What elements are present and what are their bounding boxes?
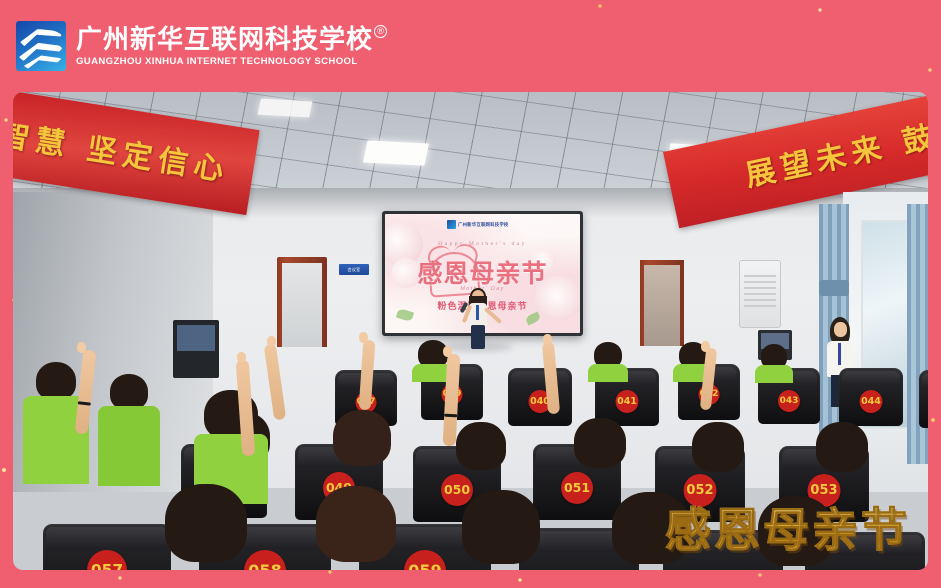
seat: 040: [508, 368, 572, 426]
computer-rack: [173, 320, 219, 378]
seat-number: 059: [404, 550, 446, 570]
audience-person: [571, 418, 629, 476]
slide-logo: 广州新华互联网科技学校: [447, 220, 509, 229]
audience-person: [453, 422, 509, 478]
audience-person: [313, 486, 399, 566]
seat: 057: [43, 524, 171, 570]
door-sign: 会议室: [339, 264, 369, 275]
air-conditioner: [739, 260, 781, 328]
school-title: 广州新华互联网科技学校 GUANGZHOU XINHUA INTERNET TE…: [76, 25, 373, 66]
ceiling-light: [363, 140, 429, 165]
ceiling-light: [258, 99, 313, 118]
banner-left-text: 智慧 坚定信心: [13, 110, 233, 190]
seat: 044: [839, 368, 903, 426]
raised-hand: [237, 352, 246, 363]
audience-person: [97, 374, 161, 484]
audience-person: [331, 410, 393, 472]
slide-logo-icon: [447, 220, 456, 229]
audience-person: [163, 484, 249, 564]
slide-headline: 感恩母亲节: [385, 254, 580, 290]
school-name-cn: 广州新华互联网科技学校: [76, 27, 373, 54]
raised-hand: [701, 341, 710, 352]
poster-frame: 智慧 坚定信心 展望未来 鼓 会议室: [0, 0, 941, 588]
presenter: [465, 290, 491, 350]
seat-number: 041: [616, 390, 639, 413]
header-band: 广州新华互联网科技学校 GUANGZHOU XINHUA INTERNET TE…: [0, 0, 400, 92]
seat-number: 051: [561, 472, 593, 504]
audience-person: [588, 342, 628, 376]
raised-hand: [359, 332, 368, 343]
registered-mark-icon: ®: [374, 25, 387, 38]
raised-hand: [77, 342, 86, 353]
seat-number: 057: [87, 550, 127, 570]
raised-hand: [443, 346, 452, 357]
school-logo-icon: [16, 21, 66, 71]
audience-person: [689, 422, 747, 480]
door-left: [277, 257, 327, 347]
overlay-gold-title: 感恩母亲节: [665, 494, 910, 560]
seat: 045: [919, 370, 928, 428]
slide-tagline-en: Happy Mother's day: [385, 241, 580, 247]
event-photo: 智慧 坚定信心 展望未来 鼓 会议室: [13, 92, 928, 570]
seat-number: 058: [244, 550, 286, 570]
audience-person: [755, 344, 793, 376]
curtain-tieback: [819, 280, 849, 296]
door-right: [640, 260, 684, 346]
audience-person: [813, 422, 871, 480]
seat-number: 044: [860, 390, 883, 413]
slide-logo-text: 广州新华互联网科技学校: [458, 222, 509, 228]
raised-hand: [543, 334, 552, 345]
raised-hand: [267, 336, 276, 347]
audience-person: [459, 490, 543, 570]
seat-number: 043: [778, 390, 800, 412]
school-name-en: GUANGZHOU XINHUA INTERNET TECHNOLOGY SCH…: [76, 56, 373, 67]
